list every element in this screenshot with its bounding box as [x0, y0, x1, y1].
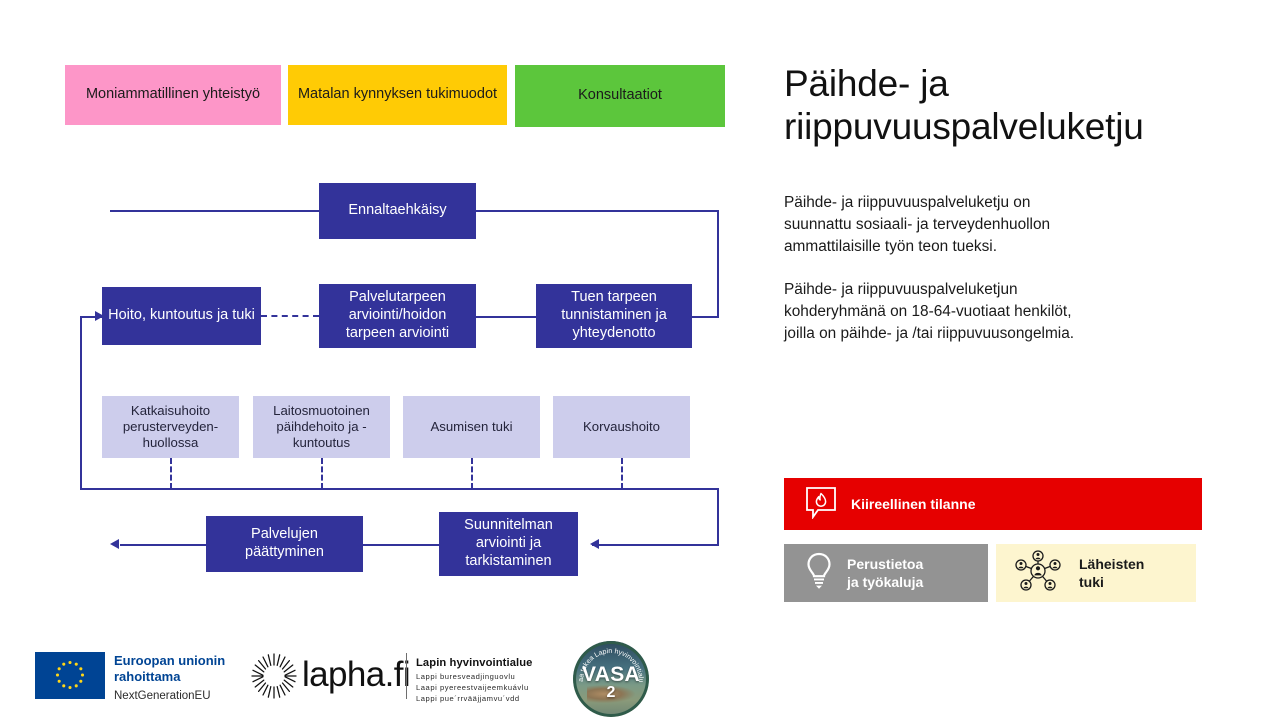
category-chip-konsultaatiot[interactable]: Konsultaatiot — [515, 65, 725, 127]
process-box-palvelujen-paattyminen[interactable]: Palvelujen päättyminen — [206, 516, 363, 572]
process-box-label: Ennaltaehkäisy — [348, 202, 446, 220]
service-box-laitosmuotoinen-paihdehoito[interactable]: Laitosmuotoinen päihdehoito ja -kuntoutu… — [253, 396, 390, 458]
connector-right-vertical-top — [717, 210, 719, 317]
process-box-hoito-kuntoutus-ja-tuki[interactable]: Hoito, kuntoutus ja tuki — [102, 287, 261, 345]
lightbulb-icon — [804, 551, 834, 596]
process-box-ennaltaehkaisy[interactable]: Ennaltaehkäisy — [319, 183, 476, 239]
process-box-label: Palvelutarpeen arviointi/hoidon tarpeen … — [325, 289, 470, 342]
process-box-suunnitelman-arviointi[interactable]: Suunnitelman arviointi ja tarkistaminen — [439, 512, 578, 576]
cta-perustietoa-ja-tyokaluja[interactable]: Perustietoa ja työkaluja — [784, 544, 988, 602]
cta-label: Läheisten tuki — [1079, 555, 1144, 591]
sunburst-icon — [250, 652, 298, 705]
lapha-wordmark: lapha.fi — [302, 655, 410, 695]
eu-funding-subtitle: NextGenerationEU — [114, 690, 211, 702]
lapha-divider — [406, 653, 407, 699]
arrow-ending-out — [110, 539, 119, 549]
cta-laheisten-tuki[interactable]: Läheisten tuki — [996, 544, 1196, 602]
vasa-badge: Vahvaa tukea Lapin hyvinvointialueelle V… — [573, 641, 649, 717]
process-box-label: Palvelujen päättyminen — [212, 526, 357, 561]
category-chip-label: Konsultaatiot — [578, 87, 662, 105]
eu-flag-icon — [35, 652, 105, 699]
process-box-tuen-tarpeen-tunnistaminen[interactable]: Tuen tarpeen tunnistaminen ja yhteydenot… — [536, 284, 692, 348]
service-box-label: Katkaisuhoito perusterveyden- huollossa — [108, 403, 233, 451]
connector-bottom-bus-line — [80, 488, 719, 490]
service-box-label: Asumisen tuki — [430, 419, 512, 435]
connector-into-review — [592, 544, 719, 546]
connector-into-recognition — [692, 316, 719, 318]
category-chip-label: Matalan kynnyksen tukimuodot — [298, 86, 497, 104]
process-box-palvelutarpeen-arviointi[interactable]: Palvelutarpeen arviointi/hoidon tarpeen … — [319, 284, 476, 348]
connector-assessment-to-recognition — [476, 316, 536, 318]
connector-service-4-dashed — [621, 458, 623, 489]
connector-right-vertical-bottom — [717, 488, 719, 545]
service-box-katkaisuhoito[interactable]: Katkaisuhoito perusterveyden- huollossa — [102, 396, 239, 458]
connector-care-to-assessment-dashed — [261, 315, 319, 317]
service-box-korvaushoito[interactable]: Korvaushoito — [553, 396, 690, 458]
cta-label: Perustietoa ja työkaluja — [847, 555, 923, 591]
connector-review-to-ending — [363, 544, 439, 546]
intro-paragraph-2: Päihde- ja riippuvuuspalveluketjun kohde… — [784, 279, 1234, 345]
category-chip-label: Moniammatillinen yhteistyö — [86, 86, 260, 104]
process-box-label: Hoito, kuntoutus ja tuki — [108, 307, 255, 325]
connector-left-vertical — [80, 316, 82, 489]
vasa-ring — [573, 641, 649, 717]
intro-paragraph-1: Päihde- ja riippuvuuspalveluketju on suu… — [784, 192, 1224, 258]
connector-ending-out — [120, 544, 206, 546]
category-chip-moniammatillinen-yhteistyo[interactable]: Moniammatillinen yhteistyö — [65, 65, 281, 125]
process-box-label: Suunnitelman arviointi ja tarkistaminen — [445, 517, 572, 570]
connector-service-3-dashed — [471, 458, 473, 489]
cta-label: Kiireellinen tilanne — [851, 495, 975, 513]
cta-kiireellinen-tilanne[interactable]: Kiireellinen tilanne — [784, 478, 1202, 530]
service-box-label: Laitosmuotoinen päihdehoito ja -kuntoutu… — [259, 403, 384, 451]
page-title: Päihde- ja riippuvuuspalveluketju — [784, 62, 1234, 149]
flame-speech-bubble-icon — [804, 485, 838, 524]
connector-service-1-dashed — [170, 458, 172, 489]
service-box-label: Korvaushoito — [583, 419, 660, 435]
slide-canvas: Moniammatillinen yhteistyö Matalan kynny… — [0, 0, 1280, 720]
lapha-region-heading: Lapin hyvinvointialue — [416, 657, 532, 669]
process-box-label: Tuen tarpeen tunnistaminen ja yhteydenot… — [542, 289, 686, 342]
category-chip-matalan-kynnyksen-tukimuodot[interactable]: Matalan kynnyksen tukimuodot — [288, 65, 507, 125]
lapha-region-languages: Lappi buresveadjinguovlu Laapi pyereestv… — [416, 672, 556, 704]
service-box-asumisen-tuki[interactable]: Asumisen tuki — [403, 396, 540, 458]
arrow-into-review — [590, 539, 599, 549]
connector-service-2-dashed — [321, 458, 323, 489]
eu-funding-title: Euroopan unionin rahoittama — [114, 653, 244, 685]
people-network-icon — [1010, 548, 1066, 599]
